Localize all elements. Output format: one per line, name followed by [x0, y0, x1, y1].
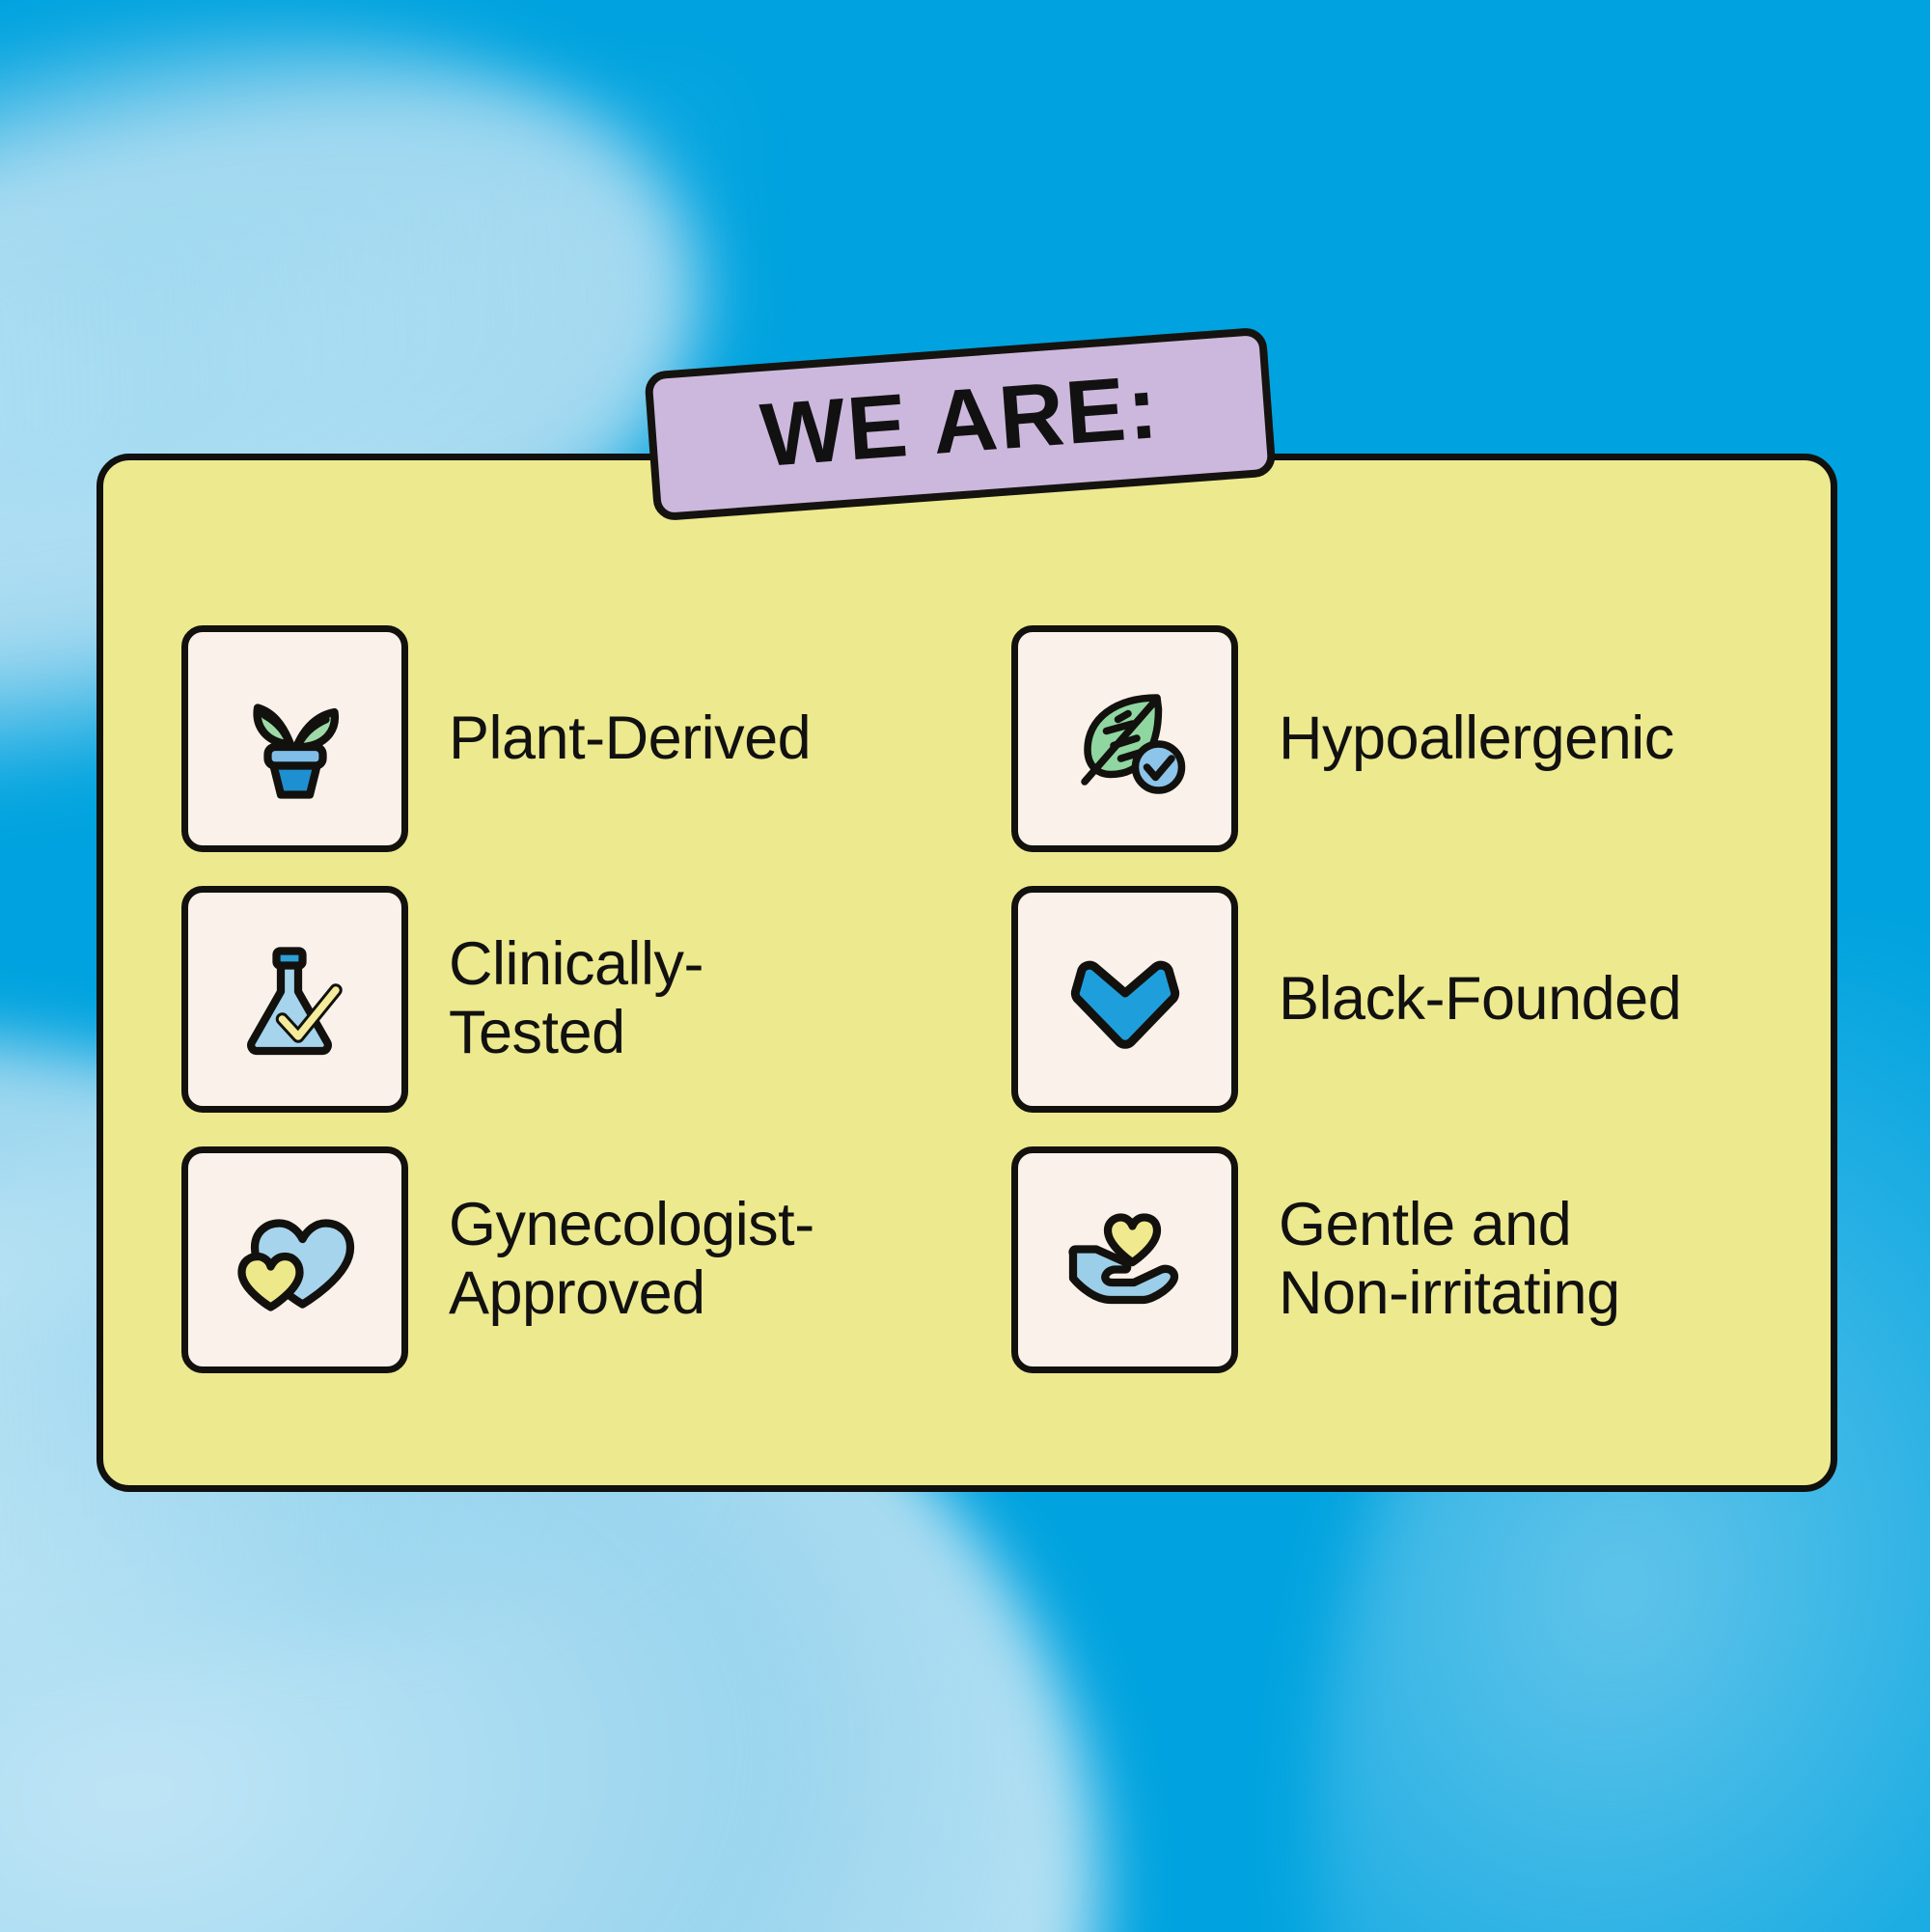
leaf-check-icon	[1053, 666, 1198, 811]
feature-item-black-founded: Black-Founded	[1011, 869, 1764, 1129]
feature-item-gentle-non-irritating: Gentle and Non-irritating	[1011, 1129, 1764, 1390]
feature-label: Hypoallergenic	[1279, 704, 1674, 773]
feature-label: Gentle and Non-irritating	[1279, 1191, 1620, 1327]
icon-card	[181, 625, 408, 852]
hand-heart-icon	[1053, 1187, 1198, 1332]
feature-label: Black-Founded	[1279, 965, 1681, 1034]
feature-item-hypoallergenic: Hypoallergenic	[1011, 608, 1764, 869]
icon-card	[1011, 886, 1238, 1113]
flask-check-icon	[223, 926, 368, 1071]
icon-card	[1011, 1146, 1238, 1373]
feature-label: Plant-Derived	[449, 704, 811, 773]
feature-item-plant-derived: Plant-Derived	[181, 608, 1011, 869]
double-hearts-icon	[223, 1187, 368, 1332]
feature-label: Gynecologist- Approved	[449, 1191, 814, 1327]
potted-plant-icon	[223, 666, 368, 811]
feature-item-clinically-tested: Clinically- Tested	[181, 869, 1011, 1129]
icon-card	[1011, 625, 1238, 852]
heart-icon	[1053, 926, 1198, 1071]
feature-label: Clinically- Tested	[449, 930, 703, 1066]
icon-card	[181, 886, 408, 1113]
badge-label: WE ARE:	[758, 362, 1163, 486]
feature-item-gynecologist-approved: Gynecologist- Approved	[181, 1129, 1011, 1390]
feature-grid: Plant-Derived Hypoallergenic	[181, 608, 1764, 1390]
icon-card	[181, 1146, 408, 1373]
